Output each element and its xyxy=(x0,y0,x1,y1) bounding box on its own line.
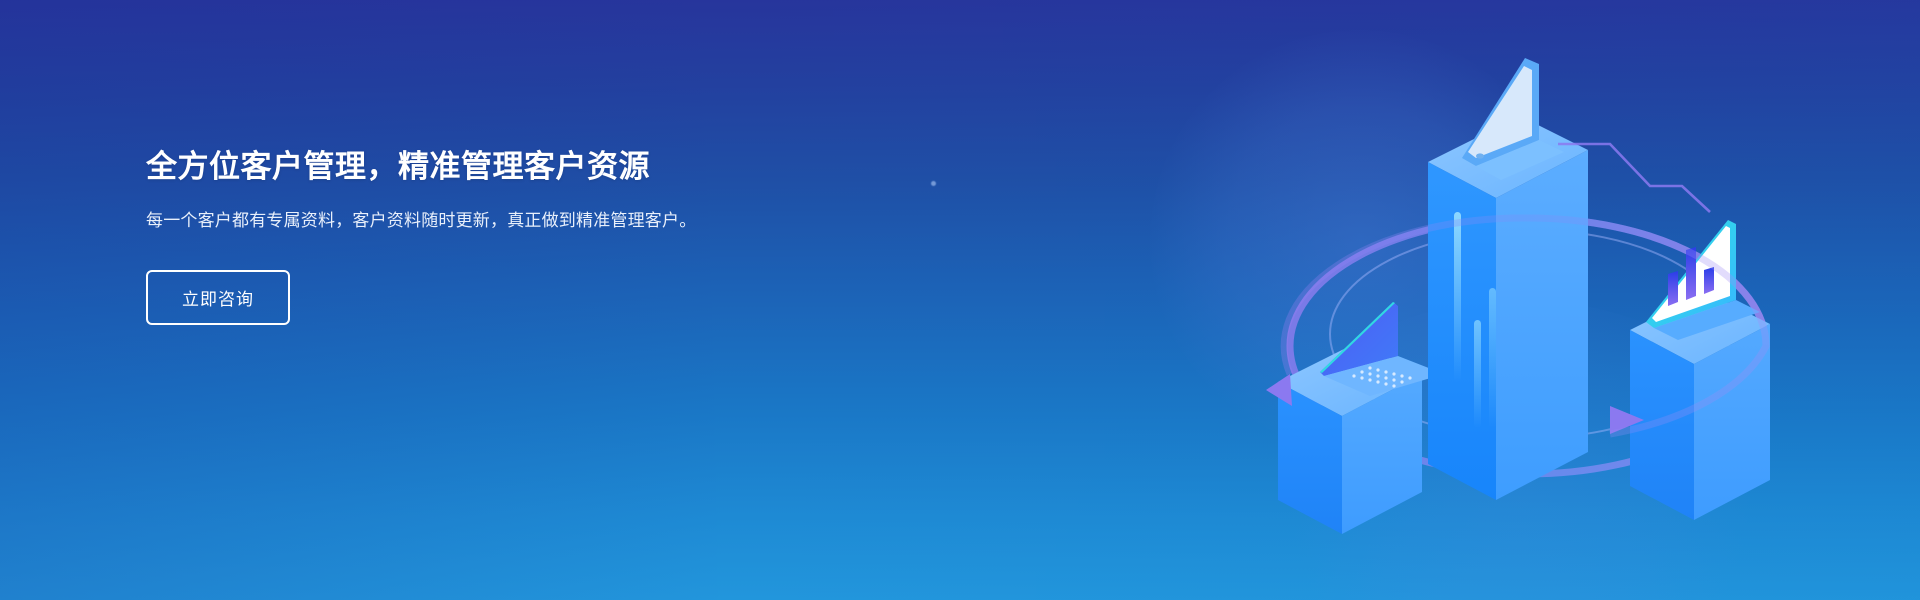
consult-now-button[interactable]: 立即咨询 xyxy=(146,270,290,325)
hero-illustration xyxy=(1258,34,1798,564)
hero-subtitle: 每一个客户都有专属资料，客户资料随时更新，真正做到精准管理客户。 xyxy=(146,207,736,235)
page-title: 全方位客户管理，精准管理客户资源 xyxy=(146,148,786,187)
sparkle-dot xyxy=(931,181,936,186)
hero-banner: 全方位客户管理，精准管理客户资源 每一个客户都有专属资料，客户资料随时更新，真正… xyxy=(0,0,1920,600)
hero-copy: 全方位客户管理，精准管理客户资源 每一个客户都有专属资料，客户资料随时更新，真正… xyxy=(146,148,786,325)
laptop-device xyxy=(1320,302,1444,396)
